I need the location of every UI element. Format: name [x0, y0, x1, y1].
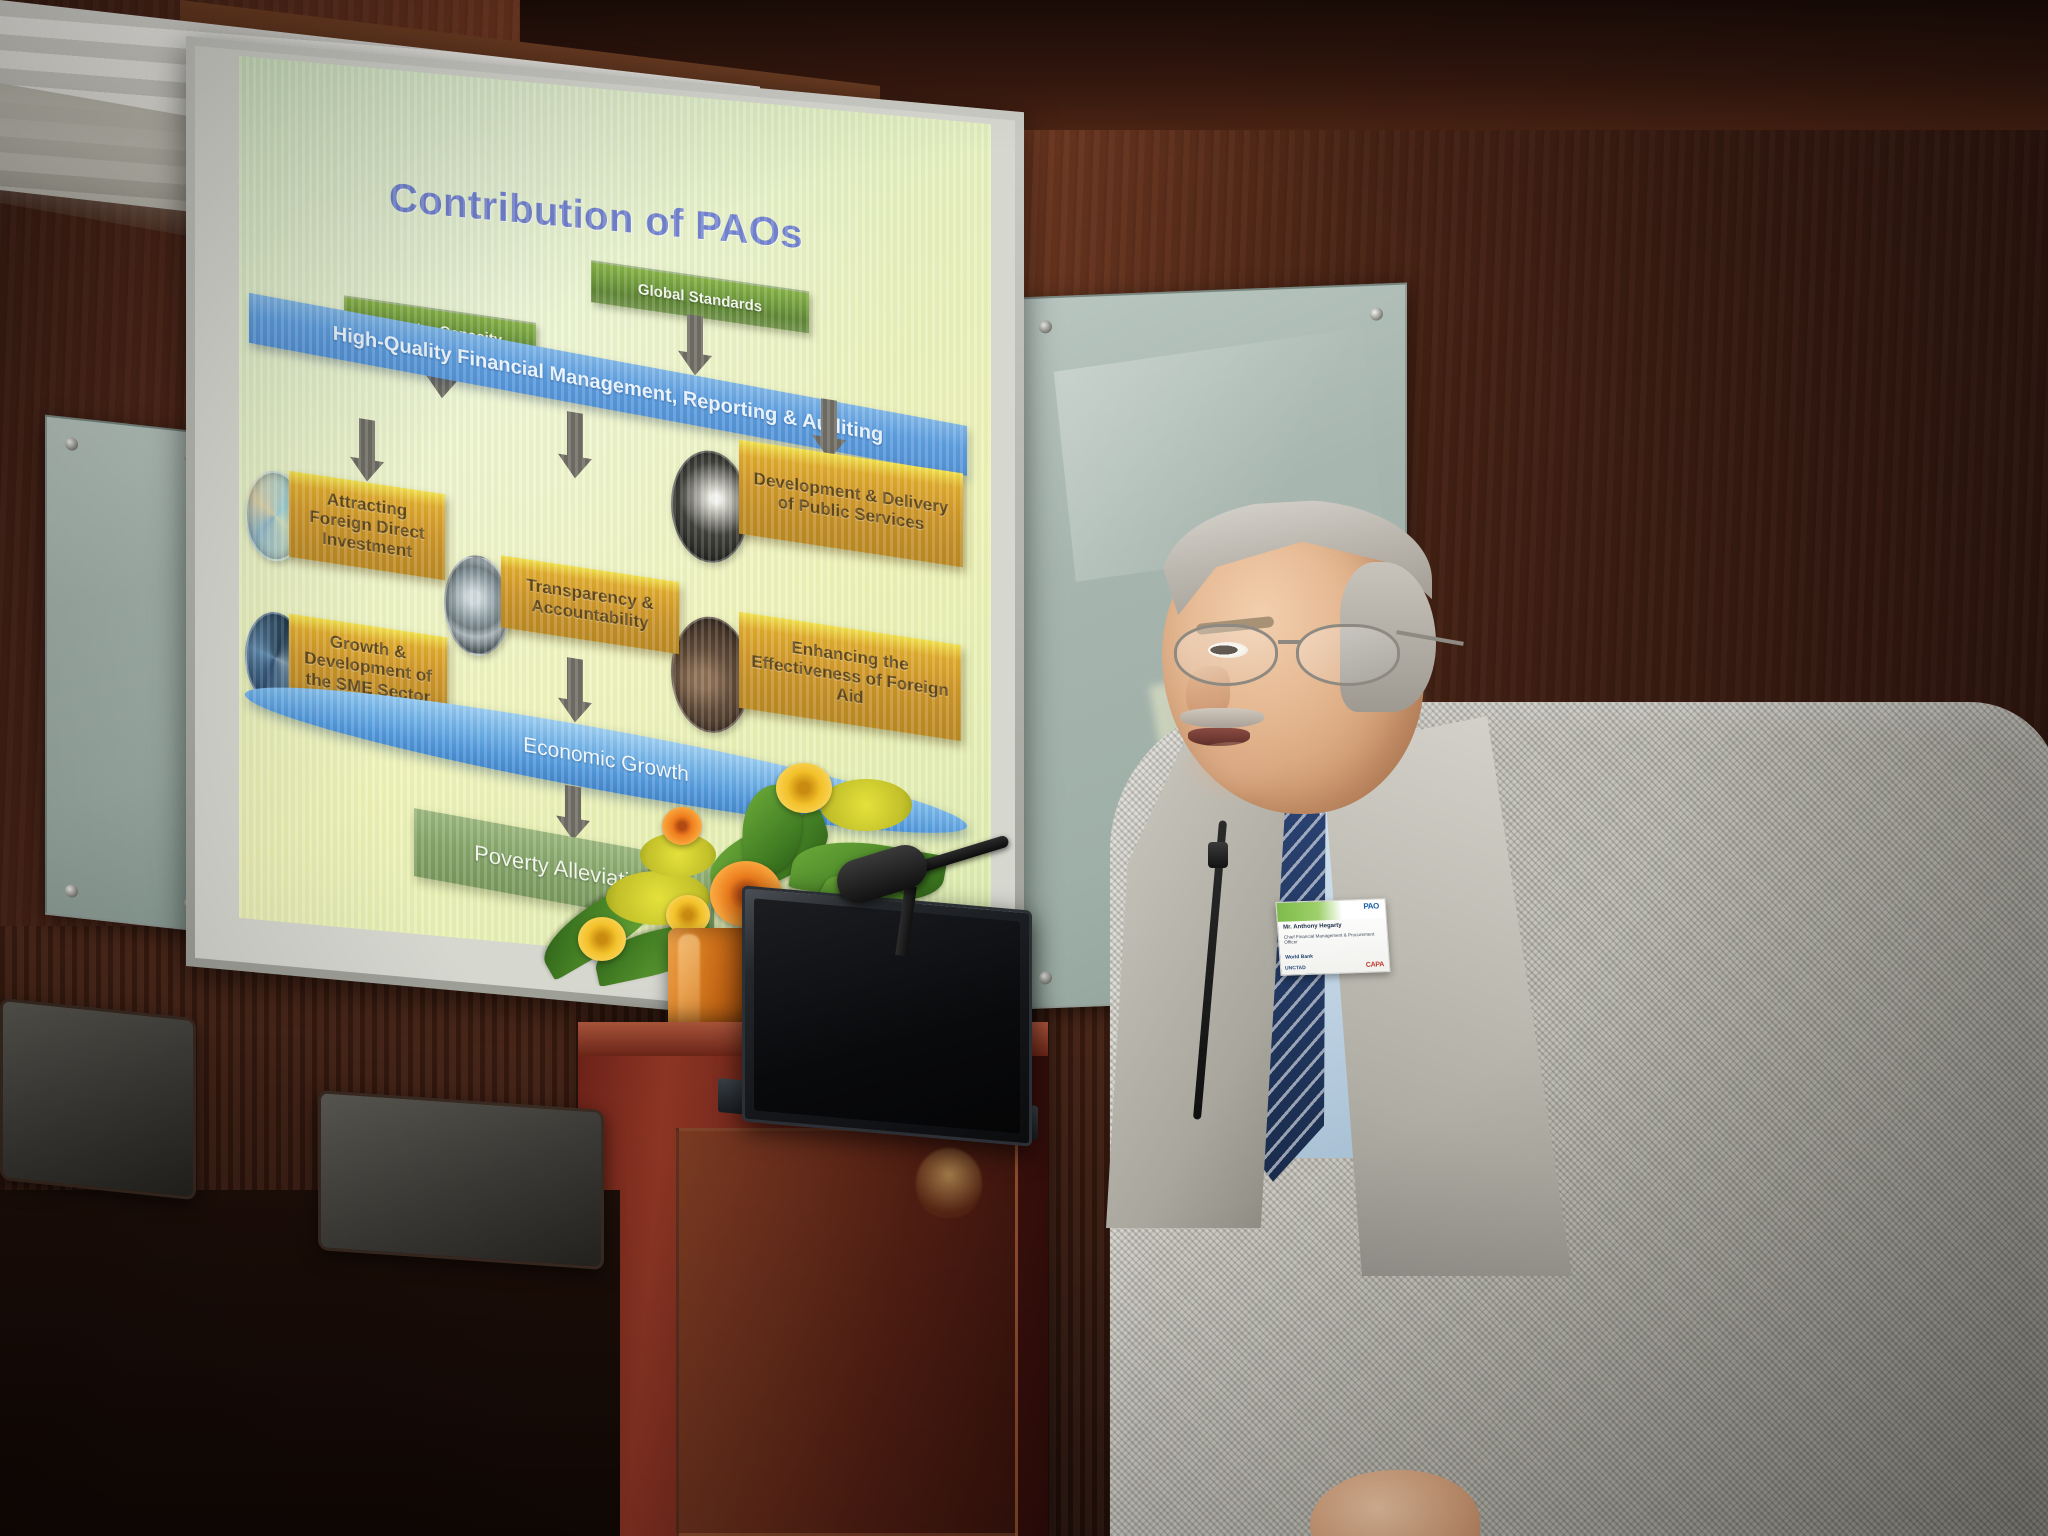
eyeglass-arm [1396, 630, 1464, 646]
chair [0, 998, 196, 1201]
filler-flower [820, 779, 912, 831]
arrow-down-icon [347, 416, 387, 486]
badge-organization: World Bank [1285, 954, 1313, 961]
arrow-down-icon [675, 312, 715, 378]
flow-node-transparency-accountability: Transparency & Accountability [501, 555, 679, 654]
eyeglass-lens-left [1174, 624, 1278, 686]
slide-title: Contribution of PAOs [389, 175, 803, 258]
panel-stud-icon [1370, 307, 1383, 320]
arrow-down-icon [555, 655, 595, 729]
panel-stud-icon [1039, 320, 1052, 333]
presentation-photo-scene: Contribution of PAOs Country Capacity Gl… [0, 0, 2048, 1536]
panel-stud-icon [65, 437, 78, 451]
badge-capa-logo: CAPA [1366, 961, 1385, 969]
mustache [1180, 708, 1264, 728]
flow-node-foreign-direct-investment: Attracting Foreign Direct Investment [289, 471, 445, 580]
chin [1178, 742, 1288, 804]
panel-stud-icon [65, 884, 78, 898]
yellow-flower [776, 763, 832, 813]
eyeglass-lens-right [1296, 624, 1400, 686]
lapel-microphone-icon [1208, 842, 1228, 868]
eyeglasses-icon [1168, 620, 1434, 694]
presenter-laptop[interactable] [742, 885, 1032, 1146]
flow-node-foreign-aid: Enhancing the Effectiveness of Foreign A… [739, 612, 961, 741]
presenter: PAO Mr. Anthony Hegarty Chief Financial … [1010, 470, 2048, 1536]
badge-sponsor: UNCTAD [1285, 965, 1306, 972]
badge-name: Mr. Anthony Hegarty [1283, 921, 1382, 931]
laptop-screen [754, 898, 1020, 1133]
badge-role: Chief Financial Management & Procurement… [1284, 931, 1384, 945]
lectern-emblem-icon [916, 1148, 982, 1218]
name-badge: PAO Mr. Anthony Hegarty Chief Financial … [1275, 898, 1390, 976]
badge-logo: PAO [1363, 901, 1379, 911]
orange-flower [662, 807, 702, 845]
public-services-photo-icon [671, 447, 749, 566]
chair [318, 1090, 604, 1270]
arrow-down-icon [555, 409, 595, 485]
eyeglass-bridge [1278, 640, 1300, 644]
yellow-flower [578, 917, 626, 961]
